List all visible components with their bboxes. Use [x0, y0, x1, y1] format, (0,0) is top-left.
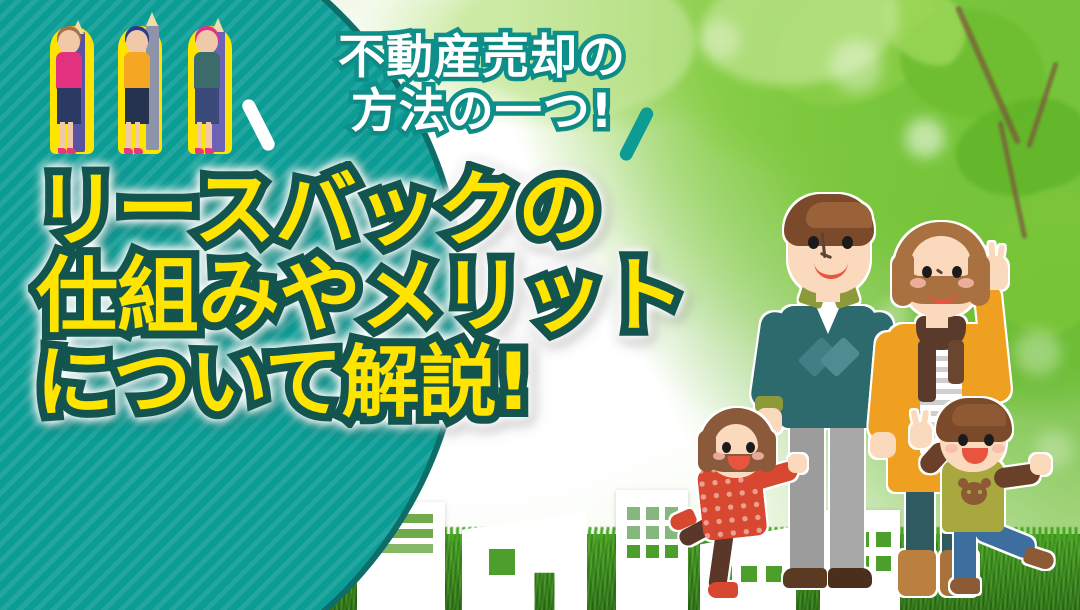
pencil-woman-3: [182, 14, 248, 164]
figure-girl: [684, 402, 809, 607]
pencil-woman-1: [44, 14, 110, 164]
title-line-1: リースバックの: [36, 168, 776, 254]
title-line-2: 仕組みやメリット: [36, 254, 776, 340]
pencil-women-illustration: [44, 14, 254, 164]
page-title: リースバックの 仕組みやメリット について解説!: [36, 168, 776, 426]
pencil-woman-2: [112, 14, 178, 164]
subtitle-line-1: 不動産売却の: [338, 30, 626, 85]
subtitle-line-2: 方法の一つ!: [282, 86, 682, 138]
figure-boy: [912, 392, 1062, 607]
title-line-3: について解説!: [36, 340, 776, 426]
subtitle-text: 不動産売却の 方法の一つ!: [282, 32, 682, 138]
banner-canvas: 不動産売却の 方法の一つ! リースバックの 仕組みやメリット について解説!: [0, 0, 1080, 610]
